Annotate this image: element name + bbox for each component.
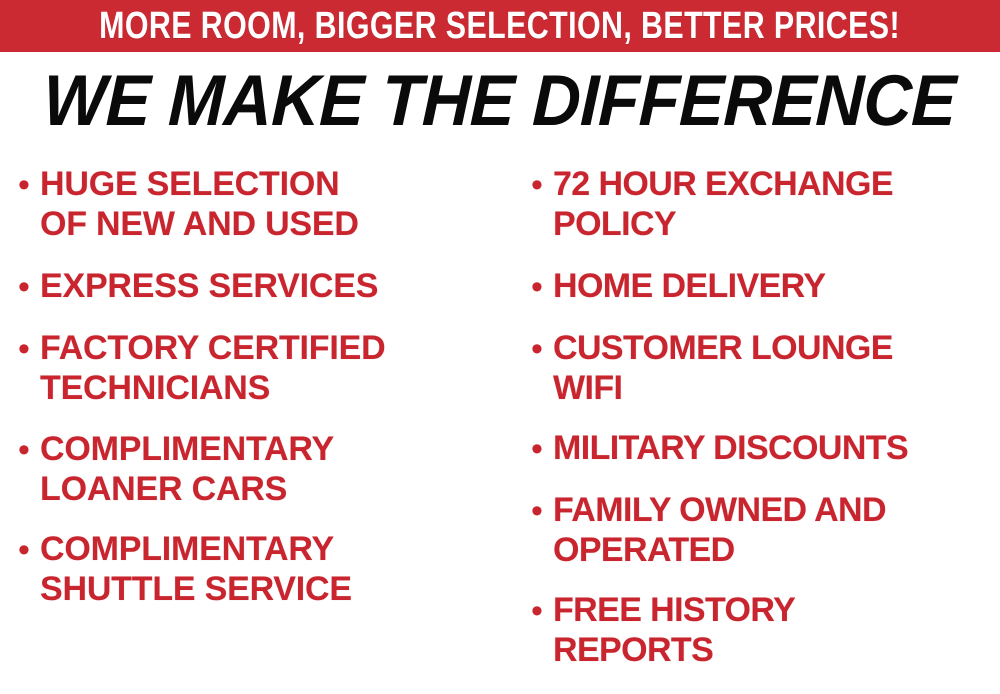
promo-banner: MORE ROOM, BIGGER SELECTION, BETTER PRIC… [0, 0, 1000, 52]
bullet-dot-icon: • [531, 594, 553, 628]
bullet-dot-icon: • [531, 168, 553, 202]
page-title: WE MAKE THE DIFFERENCE [43, 65, 958, 137]
list-item-label: FACTORY CERTIFIED TECHNICIANS [40, 328, 385, 408]
bullet-dot-icon: • [18, 533, 40, 567]
list-item: • EXPRESS SERVICES [18, 266, 378, 306]
promo-banner-text: MORE ROOM, BIGGER SELECTION, BETTER PRIC… [100, 7, 901, 45]
list-item: • COMPLIMENTARY SHUTTLE SERVICE [18, 529, 352, 609]
bullet-dot-icon: • [18, 433, 40, 467]
benefits-column-left: • HUGE SELECTION OF NEW AND USED • EXPRE… [0, 150, 505, 694]
bullet-dot-icon: • [531, 432, 553, 466]
list-item: • CUSTOMER LOUNGE WIFI [531, 328, 893, 408]
headline-container: WE MAKE THE DIFFERENCE [0, 58, 1000, 144]
list-item: • MILITARY DISCOUNTS [531, 428, 908, 468]
list-item: • FACTORY CERTIFIED TECHNICIANS [18, 328, 385, 408]
bullet-dot-icon: • [531, 332, 553, 366]
list-item: • COMPLIMENTARY LOANER CARS [18, 429, 334, 509]
list-item: • FREE HISTORY REPORTS [531, 590, 795, 670]
list-item-label: MILITARY DISCOUNTS [553, 428, 908, 468]
bullet-dot-icon: • [531, 270, 553, 304]
list-item-label: CUSTOMER LOUNGE WIFI [553, 328, 893, 408]
list-item-label: HUGE SELECTION OF NEW AND USED [40, 164, 359, 244]
list-item: • HUGE SELECTION OF NEW AND USED [18, 164, 359, 244]
list-item-label: 72 HOUR EXCHANGE POLICY [553, 164, 893, 244]
bullet-dot-icon: • [18, 332, 40, 366]
list-item-label: FAMILY OWNED AND OPERATED [553, 490, 886, 570]
list-item: • FAMILY OWNED AND OPERATED [531, 490, 886, 570]
benefits-columns: • HUGE SELECTION OF NEW AND USED • EXPRE… [0, 150, 1000, 694]
bullet-dot-icon: • [18, 168, 40, 202]
list-item-label: COMPLIMENTARY SHUTTLE SERVICE [40, 529, 352, 609]
list-item-label: HOME DELIVERY [553, 266, 825, 306]
list-item-label: EXPRESS SERVICES [40, 266, 378, 306]
bullet-dot-icon: • [18, 270, 40, 304]
list-item-label: COMPLIMENTARY LOANER CARS [40, 429, 334, 509]
list-item-label: FREE HISTORY REPORTS [553, 590, 795, 670]
list-item: • 72 HOUR EXCHANGE POLICY [531, 164, 893, 244]
benefits-column-right: • 72 HOUR EXCHANGE POLICY • HOME DELIVER… [505, 150, 1000, 694]
bullet-dot-icon: • [531, 494, 553, 528]
list-item: • HOME DELIVERY [531, 266, 825, 306]
